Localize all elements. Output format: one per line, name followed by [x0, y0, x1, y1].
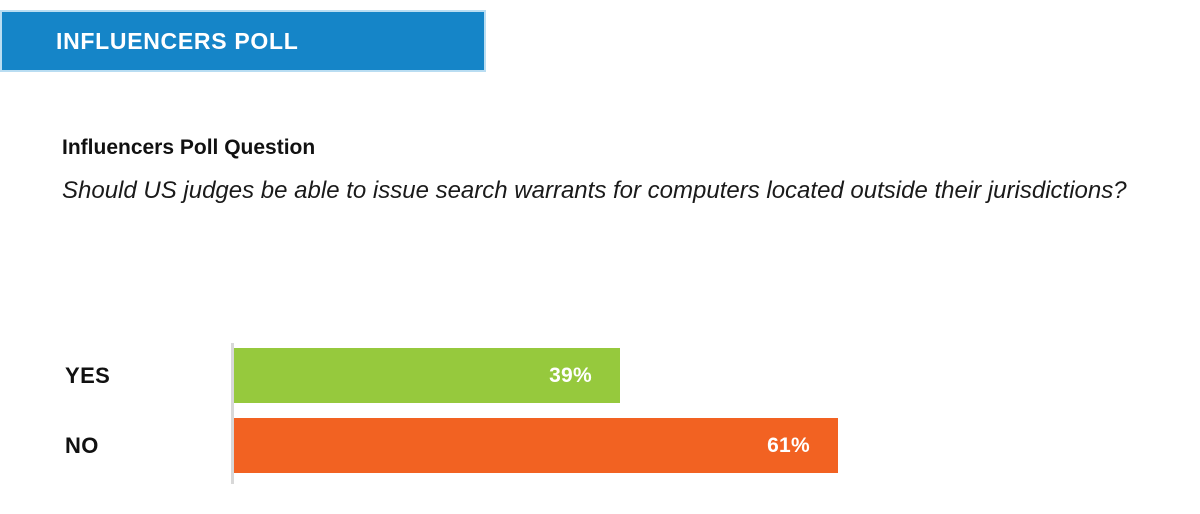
chart-bar-row-no: NO 61% — [0, 418, 1200, 473]
poll-question-heading: Influencers Poll Question — [62, 135, 1152, 160]
bar-value-no: 61% — [767, 435, 810, 456]
banner-background: INFLUENCERS POLL — [0, 10, 486, 72]
bar-track-no: 61% — [234, 418, 838, 473]
chart-bar-row-yes: YES 39% — [0, 348, 1200, 403]
poll-question-text: Should US judges be able to issue search… — [62, 174, 1152, 207]
banner-title: INFLUENCERS POLL — [2, 30, 298, 53]
bar-value-yes: 39% — [549, 365, 592, 386]
bar-track-yes: 39% — [234, 348, 620, 403]
bar-label-yes: YES — [65, 348, 110, 403]
bar-fill-yes: 39% — [234, 348, 620, 403]
bar-fill-no: 61% — [234, 418, 838, 473]
header-banner: INFLUENCERS POLL — [0, 10, 486, 72]
poll-question-block: Influencers Poll Question Should US judg… — [62, 135, 1152, 207]
poll-results-chart: YES 39% NO 61% — [0, 340, 1200, 490]
bar-label-no: NO — [65, 418, 99, 473]
